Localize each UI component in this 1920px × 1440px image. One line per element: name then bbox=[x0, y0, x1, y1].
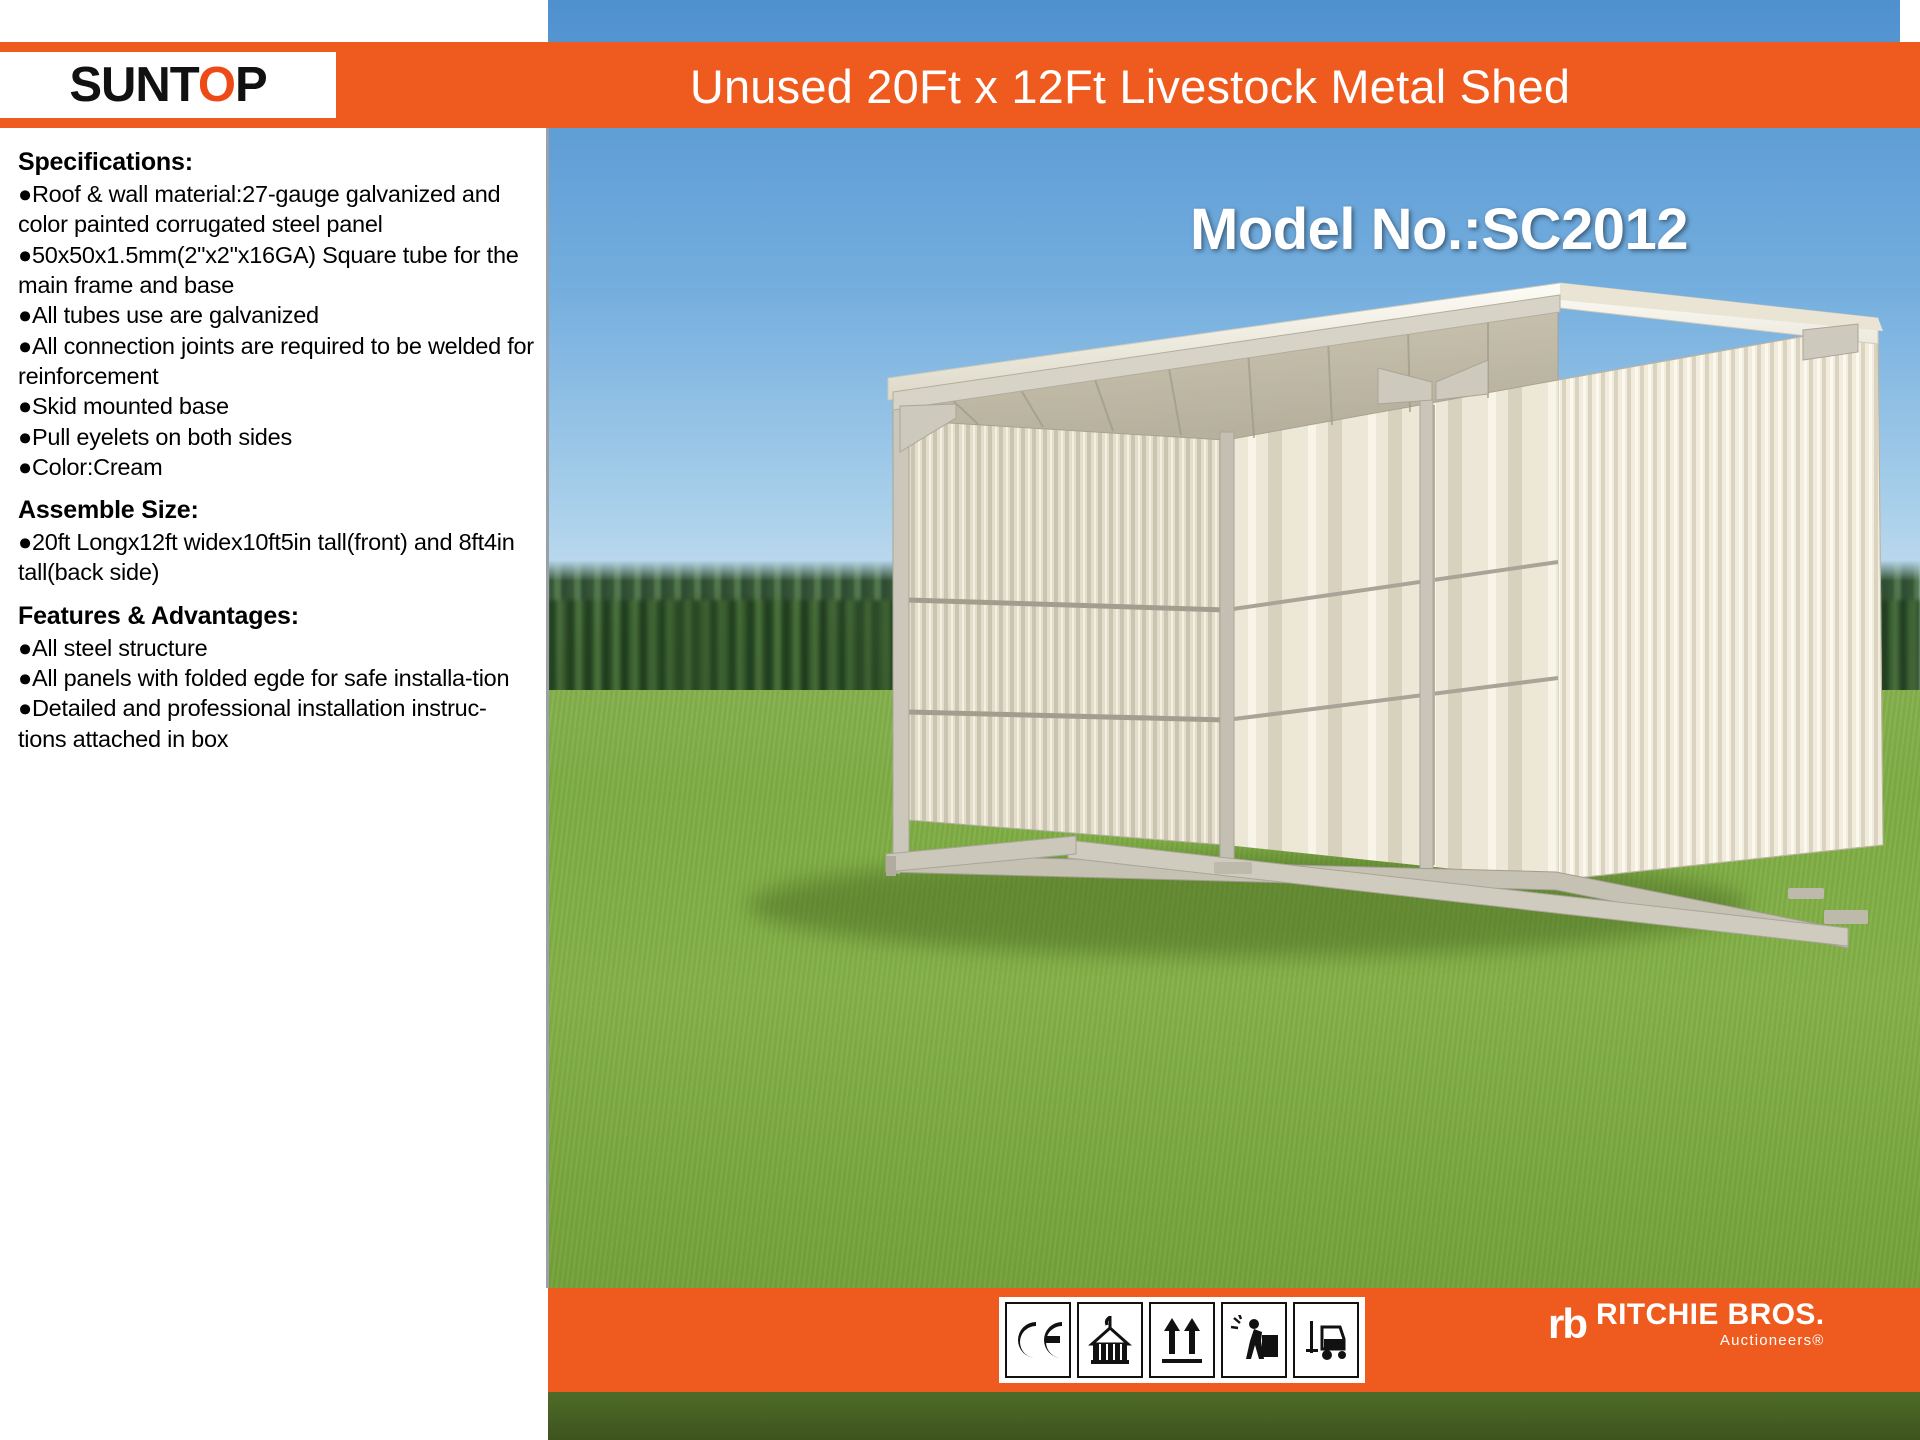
list-item: ●All panels with folded egde for safe in… bbox=[18, 663, 534, 693]
list-item: ●All steel structure bbox=[18, 633, 534, 663]
rb-company-subtitle: Auctioneers® bbox=[1596, 1333, 1825, 1348]
specifications-heading: Specifications: bbox=[18, 148, 534, 177]
top-white-strip-right bbox=[1900, 0, 1920, 44]
sling-lift-icon bbox=[1077, 1302, 1143, 1378]
ritchie-bros-logo: rb RITCHIE BROS. Auctioneers® bbox=[1548, 1300, 1825, 1348]
forklift-icon bbox=[1293, 1302, 1359, 1378]
list-item: ●20ft Longx12ft widex10ft5in tall(front)… bbox=[18, 527, 534, 588]
suntop-logo-text: SUNTOP bbox=[69, 61, 266, 110]
list-item: ●Color:Cream bbox=[18, 452, 534, 482]
ce-mark-icon bbox=[1005, 1302, 1071, 1378]
list-item: ●50x50x1.5mm(2"x2"x16GA) Square tube for… bbox=[18, 240, 534, 301]
footer-white-left bbox=[0, 1288, 548, 1440]
handle-with-care-icon bbox=[1221, 1302, 1287, 1378]
top-white-strip bbox=[0, 0, 548, 44]
model-number-label: Model No.:SC2012 bbox=[1190, 196, 1688, 263]
logo-part-2: P bbox=[235, 58, 267, 112]
assemble-size-heading: Assemble Size: bbox=[18, 496, 534, 525]
bottom-green-strip bbox=[548, 1392, 1920, 1440]
rb-company-name: RITCHIE BROS. bbox=[1596, 1300, 1825, 1330]
logo-part-1: SUNT bbox=[69, 58, 198, 112]
list-item: ●All tubes use are galvanized bbox=[18, 300, 534, 330]
page-title: Unused 20Ft x 12Ft Livestock Metal Shed bbox=[360, 50, 1900, 122]
this-way-up-icon bbox=[1149, 1302, 1215, 1378]
list-item: ●Roof & wall material:27-gauge galvanize… bbox=[18, 179, 534, 240]
list-item: ●Pull eyelets on both sides bbox=[18, 422, 534, 452]
packaging-icon-strip bbox=[999, 1297, 1365, 1383]
list-item: ●All connection joints are required to b… bbox=[18, 331, 534, 392]
rb-mark-icon: rb bbox=[1548, 1303, 1586, 1345]
rb-wordmark: RITCHIE BROS. Auctioneers® bbox=[1596, 1300, 1825, 1348]
features-heading: Features & Advantages: bbox=[18, 602, 534, 631]
spec-panel: Specifications: ●Roof & wall material:27… bbox=[0, 128, 548, 1288]
list-item: ●Detailed and professional installation … bbox=[18, 693, 534, 754]
features-list: ●All steel structure ●All panels with fo… bbox=[18, 633, 534, 754]
brochure-page: Model No.:SC2012 SUNTOP Unused 20Ft x 12… bbox=[0, 0, 1920, 1440]
logo-part-accent: O bbox=[198, 58, 235, 112]
specifications-list: ●Roof & wall material:27-gauge galvanize… bbox=[18, 179, 534, 482]
assemble-size-list: ●20ft Longx12ft widex10ft5in tall(front)… bbox=[18, 527, 534, 588]
panel-divider bbox=[546, 128, 549, 1288]
list-item: ●Skid mounted base bbox=[18, 391, 534, 421]
suntop-logo: SUNTOP bbox=[0, 52, 336, 118]
